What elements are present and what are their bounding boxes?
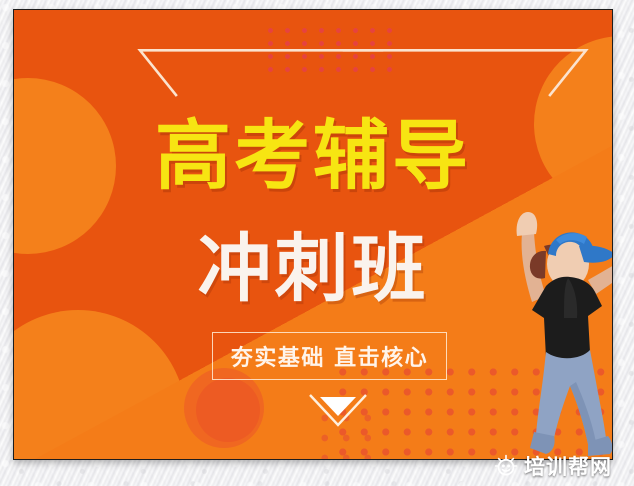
tagline-text: 夯实基础 直击核心	[231, 340, 428, 372]
banner-title-main: 高考辅导	[14, 118, 612, 194]
sun-face-icon	[494, 454, 518, 478]
page-root: 高考辅导 冲刺班 夯实基础 直击核心	[0, 0, 634, 486]
promo-banner[interactable]: 高考辅导 冲刺班 夯实基础 直击核心	[13, 9, 613, 460]
tagline-frame: 夯实基础 直击核心	[212, 332, 447, 380]
decor-circle-pink-inner	[196, 378, 260, 442]
watermark: 培训帮网	[494, 452, 612, 480]
jumping-student-illustration	[484, 206, 613, 460]
decor-dot-grid-top	[262, 24, 398, 80]
down-arrow-icon	[306, 392, 370, 432]
watermark-text: 培训帮网	[524, 451, 612, 481]
